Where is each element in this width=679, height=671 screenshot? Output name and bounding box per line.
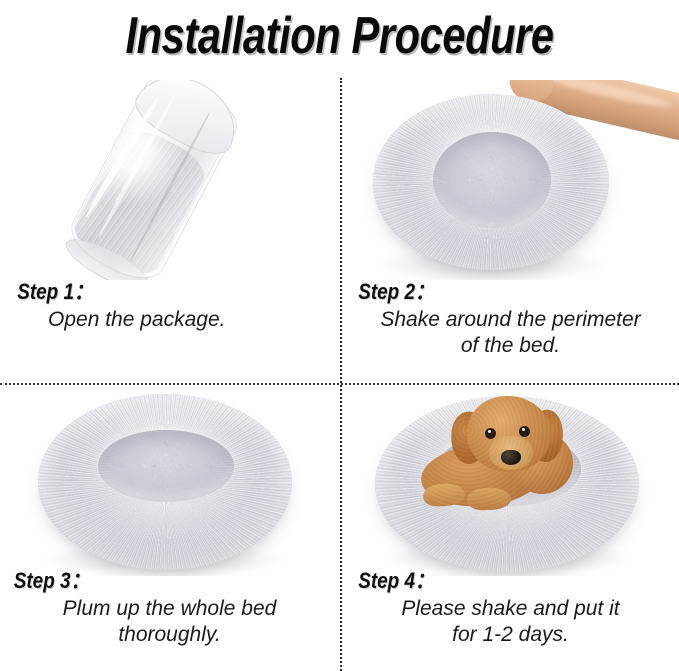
step-caption-3: Step 3： Plum up the whole bed thoroughly… (0, 569, 339, 648)
step-description-1: Open the package. (0, 304, 339, 333)
plumped-bed-photo (0, 386, 339, 576)
step-panel-4: Step 4： Please shake and put it for 1-2 … (341, 386, 679, 671)
package-roll-graphic (21, 80, 293, 280)
step-description-3: Plum up the whole bed thoroughly. (0, 593, 339, 648)
step-description-4: Please shake and put it for 1-2 days. (341, 593, 679, 648)
step-label-1: Step 1： (0, 280, 292, 304)
bed-inner-fur-texture (433, 132, 551, 228)
step-label-3: Step 3： (0, 569, 292, 593)
step-panel-2: Step 2： Shake around the perimeter of th… (341, 80, 679, 367)
puppy-eye-glint-left (488, 430, 491, 433)
donut-bed-inner-cushion (98, 430, 234, 502)
step-panel-3: Step 3： Plum up the whole bed thoroughly… (0, 386, 339, 671)
step-description-2: Shake around the perimeter of the bed. (341, 304, 679, 359)
step-caption-4: Step 4： Please shake and put it for 1-2 … (341, 569, 679, 648)
step-label-4: Step 4： (341, 569, 633, 593)
poodle-puppy-graphic (415, 392, 591, 520)
installation-procedure-infographic: Installation Procedure Step 1： Open the … (0, 0, 679, 671)
bed-inner-fur-texture (98, 430, 234, 502)
step-caption-2: Step 2： Shake around the perimeter of th… (341, 280, 679, 359)
hand-shaking-bed-photo (341, 80, 679, 280)
puppy-front-paw-right (467, 487, 512, 511)
puppy-nose (501, 450, 521, 465)
puppy-in-bed-photo (341, 386, 679, 576)
step-panel-1: Step 1： Open the package. (0, 80, 339, 367)
page-title-container: Installation Procedure (0, 0, 679, 72)
step-caption-1: Step 1： Open the package. (0, 280, 339, 333)
donut-bed-inner-cushion (433, 132, 551, 228)
page-title: Installation Procedure (125, 10, 553, 62)
puppy-eye-glint-right (522, 428, 525, 431)
vacuum-packed-bed-roll-photo (0, 80, 339, 280)
horizontal-divider (0, 383, 679, 385)
step-label-2: Step 2： (341, 280, 633, 304)
